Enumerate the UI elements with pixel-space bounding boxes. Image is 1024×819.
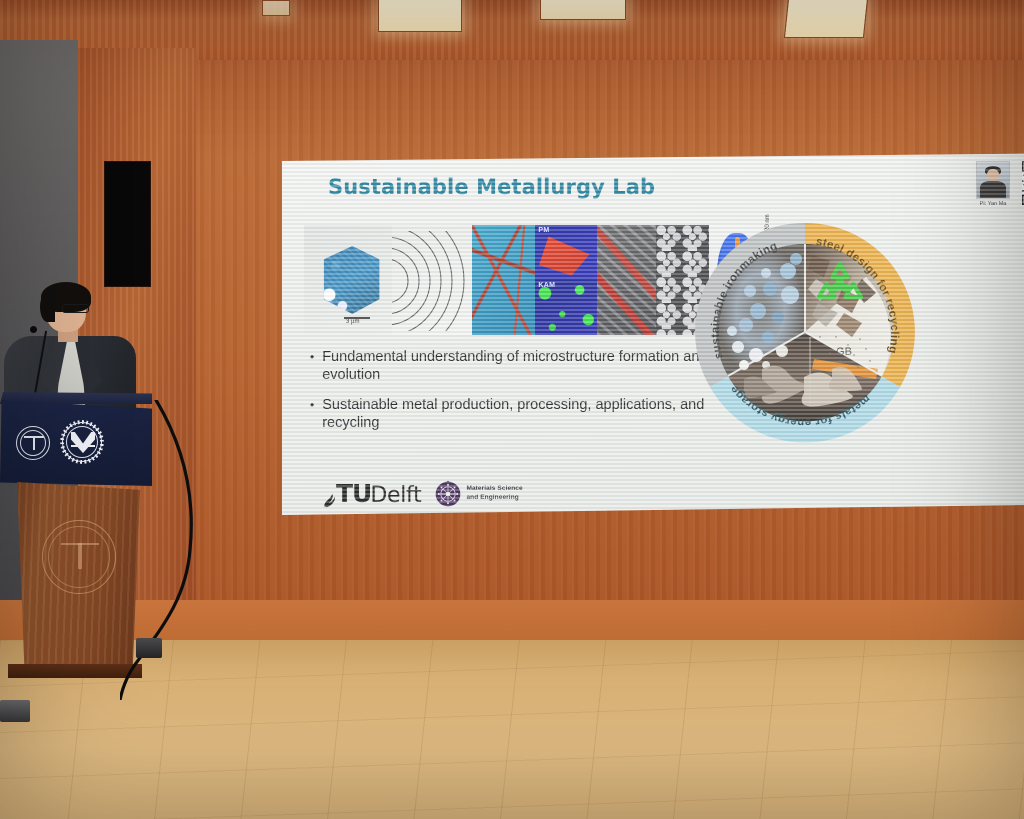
ceiling-light-panel bbox=[262, 0, 290, 16]
materials-science-logo: Materials Science and Engineering bbox=[435, 481, 522, 507]
tu-delft-logo: TU Delft bbox=[322, 479, 421, 508]
lecture-hall-scene: Sustainable Metallurgy Lab PI: Yan Ma bbox=[0, 0, 1024, 819]
phase-map-panel: PM bbox=[535, 225, 596, 280]
speaker-glasses-icon bbox=[62, 304, 89, 313]
bullet-text: Fundamental understanding of microstruct… bbox=[322, 349, 710, 384]
materials-science-logo-text: Materials Science and Engineering bbox=[466, 485, 522, 501]
bullet-dot-icon: • bbox=[310, 397, 314, 432]
micrograph-diffraction-rings bbox=[392, 225, 472, 335]
slide-bullet-list: • Fundamental understanding of microstru… bbox=[310, 349, 710, 446]
gear-icon bbox=[435, 481, 461, 507]
floor-equipment-box bbox=[136, 638, 162, 658]
list-item: • Sustainable metal production, processi… bbox=[310, 397, 710, 432]
slide-title: Sustainable Metallurgy Lab bbox=[328, 175, 655, 199]
tu-delft-logo-primary: TU bbox=[336, 479, 371, 508]
wheel-inline-label-gb: GB bbox=[836, 346, 852, 358]
research-themes-wheel: GB sustainable ironmaking steel design f… bbox=[692, 219, 918, 445]
scale-label-3um: 3 µm bbox=[346, 319, 359, 325]
micrograph-tomography-cube: 3 µm bbox=[304, 225, 392, 335]
slide: Sustainable Metallurgy Lab PI: Yan Ma bbox=[282, 153, 1024, 515]
ceiling-light-panel bbox=[540, 0, 626, 20]
pi-block: PI: Yan Ma bbox=[976, 161, 1010, 207]
wheel-svg: GB sustainable ironmaking steel design f… bbox=[692, 219, 918, 445]
pi-photo bbox=[976, 161, 1010, 199]
kam-map-tag: KAM bbox=[538, 282, 555, 289]
ceiling-light-panel bbox=[378, 0, 462, 32]
list-item: • Fundamental understanding of microstru… bbox=[310, 349, 710, 384]
bullet-dot-icon: • bbox=[310, 349, 314, 384]
tu-delft-logo-secondary: Delft bbox=[370, 483, 421, 508]
ceiling-light-panel bbox=[784, 0, 868, 38]
slide-logos: TU Delft bbox=[322, 479, 523, 508]
microphone-head-icon bbox=[30, 326, 37, 333]
micrograph-sem-indent bbox=[597, 225, 656, 335]
scale-label-1nm: 1 nm bbox=[668, 313, 681, 319]
floor-equipment-box bbox=[0, 700, 30, 722]
mse-line-1: Materials Science bbox=[466, 485, 522, 493]
phase-map-tag: PM bbox=[538, 227, 549, 234]
micrograph-phase-kam-maps: PM KAM bbox=[535, 225, 596, 335]
bullet-text: Sustainable metal production, processing… bbox=[322, 397, 710, 432]
speaker-hair-side bbox=[40, 292, 55, 322]
sjtu-emblem-icon bbox=[16, 426, 50, 460]
school-emblem-icon bbox=[62, 422, 102, 462]
mse-line-2: and Engineering bbox=[466, 494, 522, 502]
podium-seal-icon bbox=[42, 520, 116, 594]
diffraction-rings-icon bbox=[392, 231, 472, 331]
kam-map-panel: KAM bbox=[535, 280, 596, 335]
tu-delft-flame-icon bbox=[322, 492, 337, 508]
presentation-screen[interactable]: Sustainable Metallurgy Lab PI: Yan Ma bbox=[282, 153, 1024, 515]
micrograph-ebsd-map bbox=[472, 225, 535, 335]
slide-header-right: PI: Yan Ma bbox=[976, 161, 1024, 207]
wall-dark-panel bbox=[104, 161, 151, 287]
pi-caption: PI: Yan Ma bbox=[980, 201, 1007, 207]
